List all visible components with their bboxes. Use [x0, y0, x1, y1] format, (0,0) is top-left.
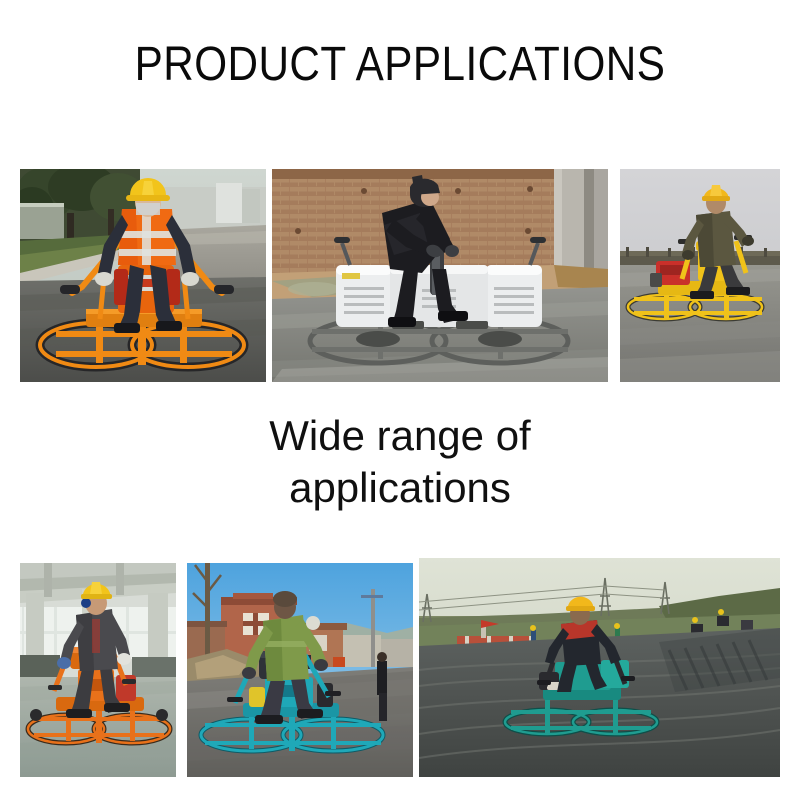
application-photo-orange-trowel-road	[20, 169, 266, 382]
application-photo-teal-trowel-wet-slab	[419, 558, 780, 777]
caption-block: Wide range of applications	[0, 410, 800, 514]
application-photo-orange-trowel-warehouse	[20, 563, 176, 777]
photo-3-illustration	[620, 169, 780, 382]
application-photo-teal-trowel-village	[187, 563, 413, 777]
page-title: PRODUCT APPLICATIONS	[48, 36, 752, 94]
caption-line-2: applications	[0, 462, 800, 514]
photo-6-illustration	[419, 558, 780, 777]
caption-line-1: Wide range of	[0, 410, 800, 462]
photo-2-illustration	[272, 169, 608, 382]
photo-1-illustration	[20, 169, 266, 382]
photo-4-illustration	[20, 563, 176, 777]
product-applications-page: PRODUCT APPLICATIONS	[0, 0, 800, 800]
application-photo-white-trowel-brick-wall	[272, 169, 608, 382]
photo-5-illustration	[187, 563, 413, 777]
application-photo-yellow-trowel-slab	[620, 169, 780, 382]
